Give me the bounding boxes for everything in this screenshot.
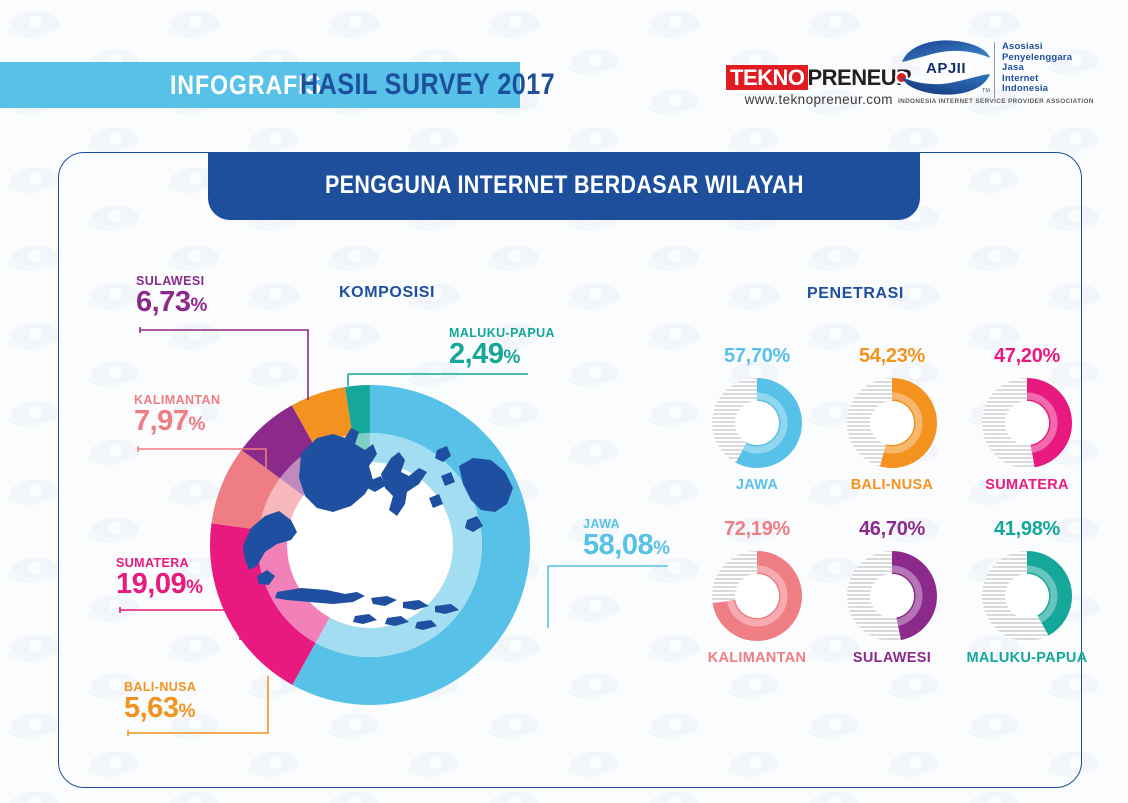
komposisi-label-sulawesi-value: 6,73 [136,286,190,318]
komposisi-label-jawa-value: 58,08 [583,529,653,561]
apjii-logo-mark: APJII TM [898,36,994,98]
penetrasi-donut-kalimantan [707,546,807,646]
apjii-line-1: Asosiasi [1002,42,1072,53]
penetrasi-name-sumatera: SUMATERA [962,477,1092,493]
penetrasi-item-sumatera: 47,20% SUMATERA [962,345,1092,493]
teknopreneur-url: www.teknopreneur.com [726,92,912,107]
penetrasi-heading: PENETRASI [807,285,904,303]
apjii-subtitle: INDONESIA INTERNET SERVICE PROVIDER ASSO… [898,98,1088,105]
penetrasi-donut-sulawesi [842,546,942,646]
donut-hole [735,401,779,445]
komposisi-heading: KOMPOSISI [339,284,435,302]
teknopreneur-logo-mark: TEKNO [726,65,808,90]
penetrasi-value-maluku-papua: 41,98% [962,518,1092,541]
section-banner: PENGGUNA INTERNET BERDASAR WILAYAH [208,152,920,220]
percent-sign: % [653,538,669,559]
komposisi-label-maluku-papua: MALUKU-PAPUA 2,49% [449,327,555,372]
apjii-fullname: Asosiasi Penyelenggara Jasa Internet Ind… [1002,42,1072,95]
penetrasi-name-jawa: JAWA [692,477,822,493]
komposisi-label-maluku-papua-value: 2,49 [449,338,503,370]
header-title: HASIL SURVEY 2017 [300,68,555,102]
donut-hole [1005,574,1049,618]
penetrasi-value-jawa: 57,70% [692,345,822,368]
donut-hole [870,401,914,445]
apjii-divider [994,42,995,98]
apjii-logo: APJII TM Asosiasi Penyelenggara Jasa Int… [898,36,994,98]
komposisi-pie-chart [205,380,535,710]
donut-hole [735,574,779,618]
komposisi-label-balinusa-value: 5,63 [124,692,178,724]
apjii-trademark: TM [982,88,990,94]
donut-hole [870,574,914,618]
penetrasi-name-bali-nusa: BALI-NUSA [827,477,957,493]
penetrasi-value-sulawesi: 46,70% [827,518,957,541]
komposisi-label-balinusa: BALI-NUSA 5,63% [124,681,196,726]
penetrasi-name-maluku-papua: MALUKU-PAPUA [962,650,1092,666]
penetrasi-item-jawa: 57,70% JAWA [692,345,822,493]
komposisi-label-kalimantan: KALIMANTAN 7,97% [134,394,220,439]
penetrasi-item-sulawesi: 46,70% SULAWESI [827,518,957,666]
donut-hole [1005,401,1049,445]
penetrasi-item-maluku-papua: 41,98% MALUKU-PAPUA [962,518,1092,666]
penetrasi-value-kalimantan: 72,19% [692,518,822,541]
penetrasi-name-sulawesi: SULAWESI [827,650,957,666]
percent-sign: % [503,347,519,368]
percent-sign: % [188,414,204,435]
penetrasi-donut-maluku-papua [977,546,1077,646]
komposisi-label-sumatera: SUMATERA 19,09% [116,557,202,602]
penetrasi-value-bali-nusa: 54,23% [827,345,957,368]
apjii-line-5: Indonesia [1002,84,1072,95]
komposisi-label-sulawesi: SULAWESI 6,73% [136,275,207,320]
penetrasi-donut-bali-nusa [842,373,942,473]
penetrasi-item-kalimantan: 72,19% KALIMANTAN [692,518,822,666]
percent-sign: % [190,295,206,316]
svg-text:APJII: APJII [926,60,966,77]
komposisi-label-jawa: JAWA 58,08% [583,518,669,563]
penetrasi-name-kalimantan: KALIMANTAN [692,650,822,666]
komposisi-label-kalimantan-value: 7,97 [134,405,188,437]
komposisi-label-sumatera-value: 19,09 [116,568,186,600]
penetrasi-donut-sumatera [977,373,1077,473]
penetrasi-item-bali-nusa: 54,23% BALI-NUSA [827,345,957,493]
penetrasi-value-sumatera: 47,20% [962,345,1092,368]
section-banner-title: PENGGUNA INTERNET BERDASAR WILAYAH [208,171,920,200]
penetrasi-donut-jawa [707,373,807,473]
percent-sign: % [178,701,194,722]
teknopreneur-logo: TEKNO PRENEUR www.teknopreneur.com [726,64,912,107]
percent-sign: % [186,577,202,598]
